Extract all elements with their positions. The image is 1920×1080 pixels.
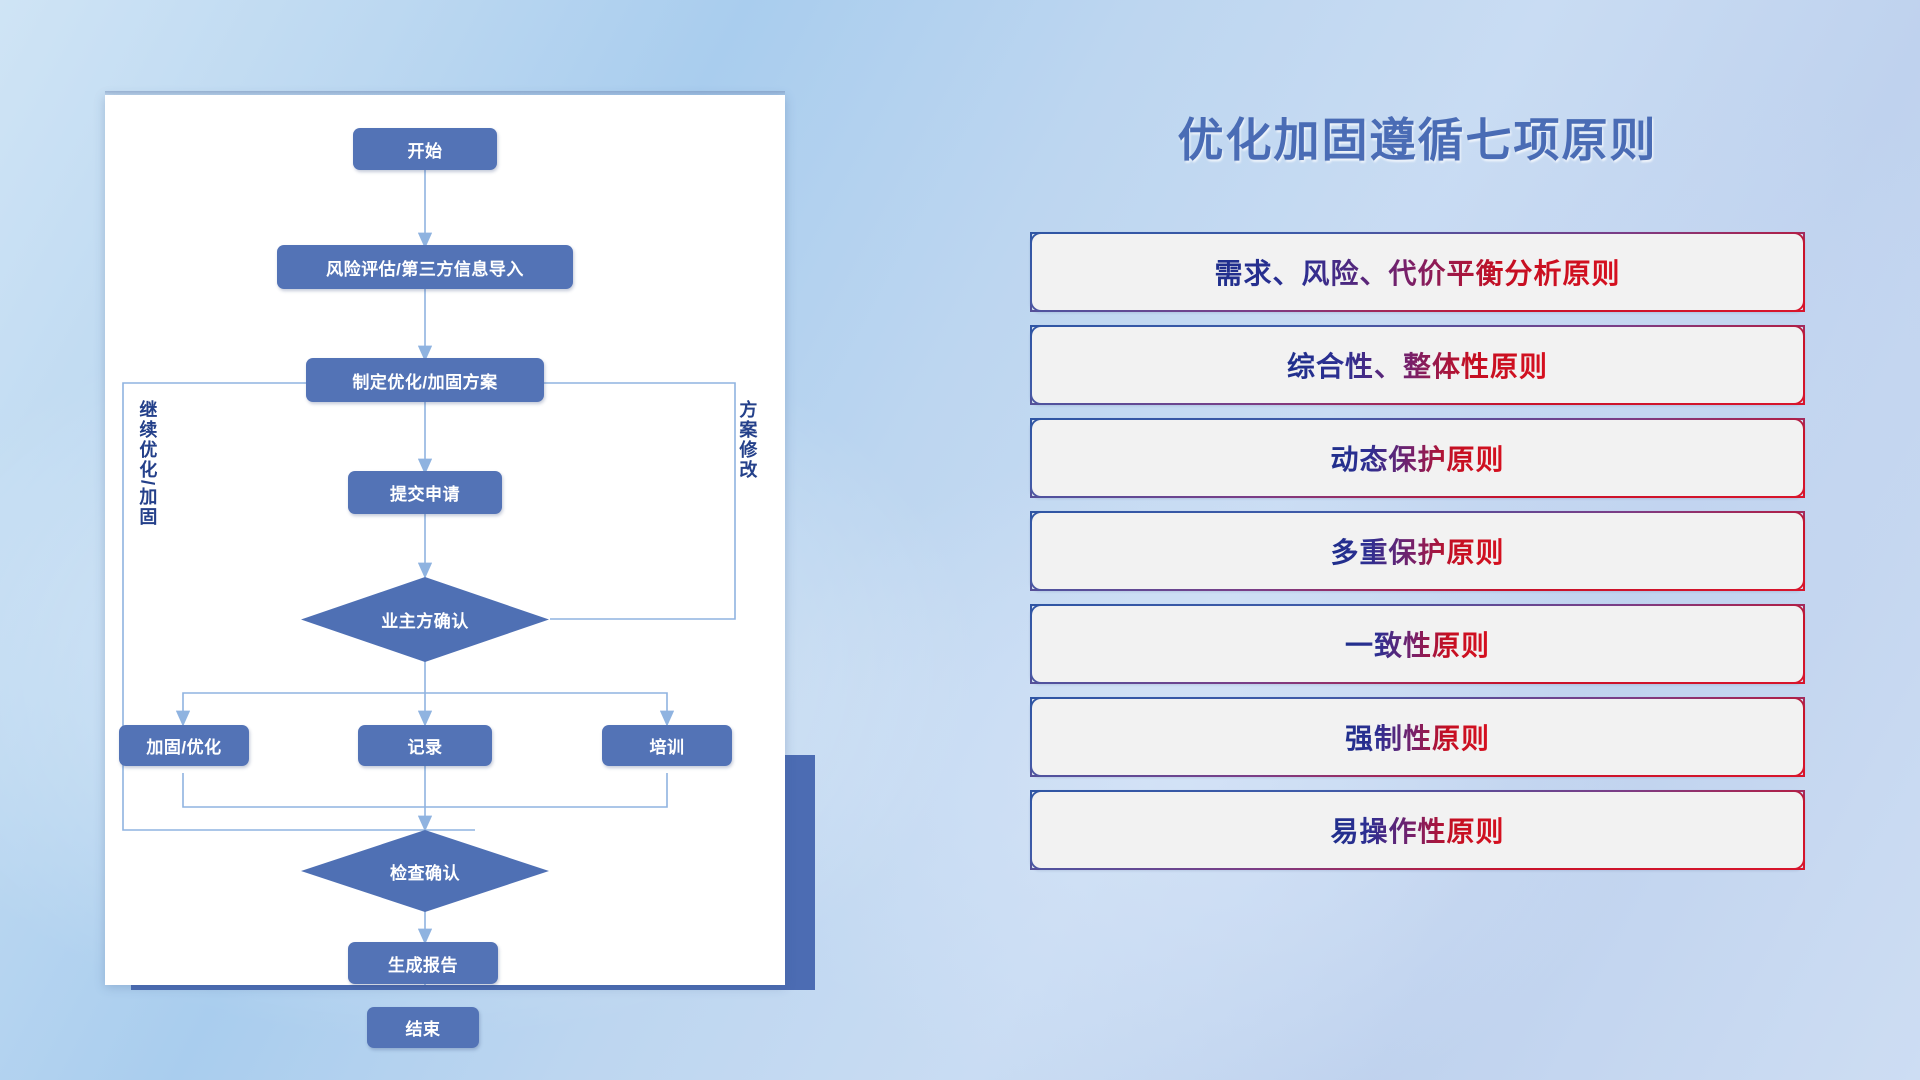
principle-label: 综合性、整体性原则 xyxy=(1287,345,1548,385)
principle-card-6[interactable]: 强制性原则 xyxy=(1030,697,1805,777)
slide-canvas: 开始 风险评估/第三方信息导入 制定优化/加固方案 提交申请 业主方确认 加固/… xyxy=(0,0,1920,1080)
principle-card-5[interactable]: 一致性原则 xyxy=(1030,604,1805,684)
edge-label-continue-optimize: 继续优化/加固 xyxy=(138,400,156,527)
flow-node-label: 加固/优化 xyxy=(146,733,221,758)
principle-card-4[interactable]: 多重保护原则 xyxy=(1030,511,1805,591)
flow-node-reinforce[interactable]: 加固/优化 xyxy=(119,725,249,766)
flow-node-generate-report[interactable]: 生成报告 xyxy=(348,942,498,984)
flow-node-label: 生成报告 xyxy=(388,951,458,976)
principle-card-2[interactable]: 综合性、整体性原则 xyxy=(1030,325,1805,405)
principle-label: 一致性原则 xyxy=(1345,624,1490,664)
flow-node-end[interactable]: 结束 xyxy=(367,1007,479,1048)
flowchart: 开始 风险评估/第三方信息导入 制定优化/加固方案 提交申请 业主方确认 加固/… xyxy=(105,95,785,985)
principle-card-7[interactable]: 易操作性原则 xyxy=(1030,790,1805,870)
flow-node-risk-assessment[interactable]: 风险评估/第三方信息导入 xyxy=(277,245,573,289)
flow-node-label: 风险评估/第三方信息导入 xyxy=(326,255,524,280)
principle-card-1[interactable]: 需求、风险、代价平衡分析原则 xyxy=(1030,232,1805,312)
panel-title: 优化加固遵循七项原则 xyxy=(1030,104,1805,170)
flow-node-label: 业主方确认 xyxy=(381,607,469,632)
principle-label: 多重保护原则 xyxy=(1330,531,1504,571)
principles-list: 需求、风险、代价平衡分析原则 综合性、整体性原则 动态保护原则 多重保护原则 一… xyxy=(1030,232,1805,883)
flow-node-start[interactable]: 开始 xyxy=(353,128,497,170)
flow-node-label: 记录 xyxy=(408,733,443,758)
flow-node-label: 培训 xyxy=(650,733,685,758)
flow-node-submit-application[interactable]: 提交申请 xyxy=(348,471,502,514)
principle-label: 动态保护原则 xyxy=(1330,438,1504,478)
principle-label: 强制性原则 xyxy=(1345,717,1490,757)
flow-node-record[interactable]: 记录 xyxy=(358,725,492,766)
principle-card-3[interactable]: 动态保护原则 xyxy=(1030,418,1805,498)
principle-label: 易操作性原则 xyxy=(1330,810,1504,850)
principle-label: 需求、风险、代价平衡分析原则 xyxy=(1214,252,1620,292)
flow-node-make-plan[interactable]: 制定优化/加固方案 xyxy=(306,358,544,402)
flow-node-label: 提交申请 xyxy=(390,480,460,505)
flow-node-label: 检查确认 xyxy=(390,859,460,884)
flow-node-label: 结束 xyxy=(406,1015,441,1040)
flow-node-training[interactable]: 培训 xyxy=(602,725,732,766)
flow-node-label: 制定优化/加固方案 xyxy=(352,368,497,393)
flow-node-label: 开始 xyxy=(408,137,443,162)
edge-label-plan-revision: 方案修改 xyxy=(738,400,756,480)
